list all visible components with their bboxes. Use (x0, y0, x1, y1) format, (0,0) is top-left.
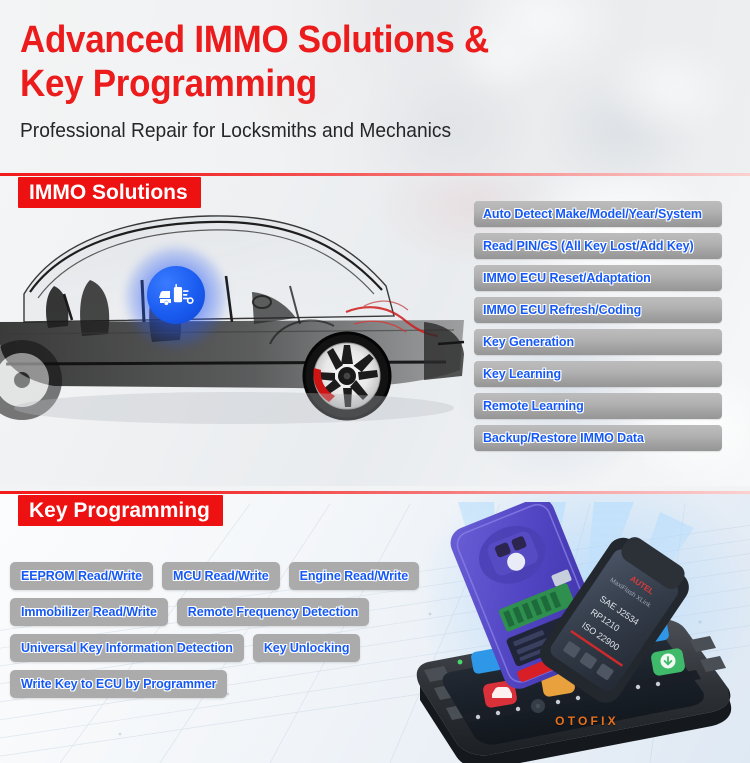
immo-feature-pill[interactable]: IMMO ECU Reset/Adaptation (474, 265, 722, 291)
immo-solutions-section: Auto Detect Make/Model/Year/System Read … (0, 176, 750, 486)
hero-text-block: Advanced IMMO Solutions & Key Programmin… (20, 18, 530, 144)
key-programming-label: EEPROM Read/Write (21, 569, 142, 583)
car-key-immo-icon (147, 266, 205, 324)
key-programming-row: EEPROM Read/Write MCU Read/Write Engine … (10, 562, 430, 590)
key-programming-pill[interactable]: Universal Key Information Detection (10, 634, 244, 662)
key-programming-pill[interactable]: MCU Read/Write (162, 562, 280, 590)
immo-feature-pill[interactable]: Backup/Restore IMMO Data (474, 425, 722, 451)
immo-section-tag: IMMO Solutions (18, 177, 201, 208)
hero-banner: Advanced IMMO Solutions & Key Programmin… (0, 0, 750, 176)
immo-feature-pill[interactable]: Key Generation (474, 329, 722, 355)
immo-feature-label: Backup/Restore IMMO Data (483, 431, 644, 445)
key-programming-row: Universal Key Information Detection Key … (10, 634, 430, 662)
immo-feature-label: IMMO ECU Reset/Adaptation (483, 271, 651, 285)
immo-badge (135, 256, 217, 338)
immo-feature-pill[interactable]: Read PIN/CS (All Key Lost/Add Key) (474, 233, 722, 259)
immo-feature-label: IMMO ECU Refresh/Coding (483, 303, 641, 317)
immo-feature-pill[interactable]: Auto Detect Make/Model/Year/System (474, 201, 722, 227)
key-programming-label: Key Unlocking (264, 641, 350, 655)
otofix-brand-wordmark: OTOFIX (533, 714, 641, 728)
immo-feature-pill[interactable]: Key Learning (474, 361, 722, 387)
key-programming-section-tag: Key Programming (18, 495, 223, 526)
key-programming-pill[interactable]: Key Unlocking (253, 634, 361, 662)
immo-feature-pill[interactable]: IMMO ECU Refresh/Coding (474, 297, 722, 323)
key-programming-section-divider (0, 491, 750, 494)
immo-feature-label: Remote Learning (483, 399, 584, 413)
promo-page: Advanced IMMO Solutions & Key Programmin… (0, 0, 750, 763)
key-programming-label: Immobilizer Read/Write (21, 605, 157, 619)
key-programming-label: Engine Read/Write (300, 569, 409, 583)
key-programming-label: Write Key to ECU by Programmer (21, 677, 216, 691)
immo-feature-label: Key Learning (483, 367, 561, 381)
key-programming-feature-list: EEPROM Read/Write MCU Read/Write Engine … (10, 562, 430, 706)
key-programming-label: Universal Key Information Detection (21, 641, 233, 655)
immo-section-divider (0, 173, 750, 176)
immo-feature-label: Auto Detect Make/Model/Year/System (483, 207, 702, 221)
key-programming-row: Immobilizer Read/Write Remote Frequency … (10, 598, 430, 626)
immo-feature-label: Key Generation (483, 335, 574, 349)
immo-feature-pill[interactable]: Remote Learning (474, 393, 722, 419)
key-programming-pill[interactable]: Remote Frequency Detection (177, 598, 369, 626)
key-programming-row: Write Key to ECU by Programmer (10, 670, 430, 698)
page-subtitle: Professional Repair for Locksmiths and M… (20, 118, 509, 144)
page-title: Advanced IMMO Solutions & Key Programmin… (20, 18, 489, 106)
key-programming-pill[interactable]: EEPROM Read/Write (10, 562, 153, 590)
immo-feature-list: Auto Detect Make/Model/Year/System Read … (474, 201, 722, 457)
key-programming-label: MCU Read/Write (173, 569, 269, 583)
key-programming-pill[interactable]: Engine Read/Write (289, 562, 420, 590)
key-programming-pill[interactable]: Write Key to ECU by Programmer (10, 670, 227, 698)
immo-feature-label: Read PIN/CS (All Key Lost/Add Key) (483, 239, 694, 253)
key-programming-label: Remote Frequency Detection (188, 605, 358, 619)
key-programming-pill[interactable]: Immobilizer Read/Write (10, 598, 168, 626)
xray-car-illustration (0, 194, 474, 469)
